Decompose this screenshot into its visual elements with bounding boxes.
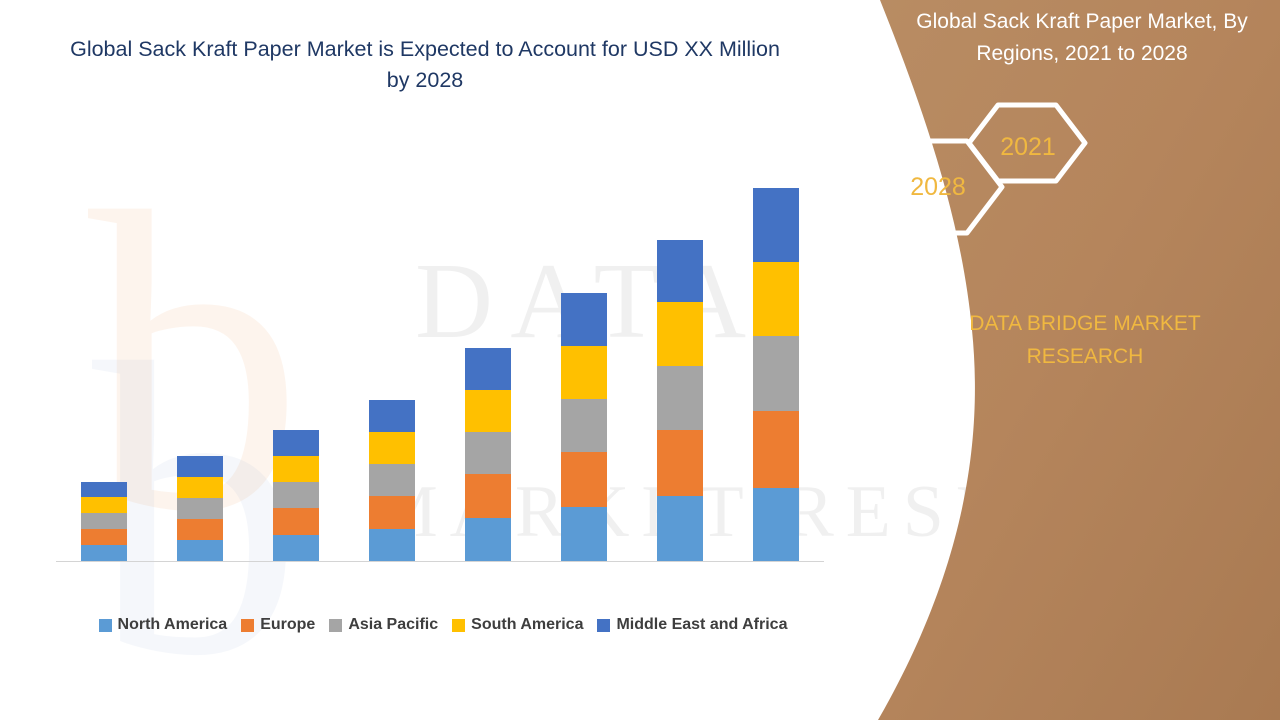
bar-segment — [81, 513, 127, 529]
bar-segment — [657, 366, 703, 430]
chart-legend: North AmericaEuropeAsia PacificSouth Ame… — [48, 616, 838, 634]
legend-swatch-icon — [241, 619, 254, 632]
bar-segment — [465, 474, 511, 518]
stacked-bar-2024 — [369, 400, 415, 561]
hexagon-2021-label: 2021 — [1000, 133, 1056, 161]
brand-name: DATA BRIDGE MARKET RESEARCH — [920, 308, 1250, 373]
bar-segment — [753, 488, 799, 561]
legend-item[interactable]: Middle East and Africa — [597, 616, 787, 634]
bar-column — [248, 430, 344, 561]
poster-canvas: b b DATA MARKET RESEARCH Global Sack Kra… — [0, 0, 1280, 720]
bar-segment — [81, 529, 127, 545]
bar-segment — [465, 348, 511, 390]
bar-segment — [177, 456, 223, 477]
chart-plot-area: 20212022202320242025202620272028 — [56, 170, 824, 562]
stacked-bar-2023 — [273, 430, 319, 561]
bar-column — [152, 456, 248, 561]
bar-segment — [561, 507, 607, 561]
bar-segment — [177, 519, 223, 540]
legend-swatch-icon — [452, 619, 465, 632]
legend-label: Europe — [260, 616, 315, 634]
legend-swatch-icon — [99, 619, 112, 632]
bar-segment — [465, 518, 511, 561]
bar-segment — [81, 497, 127, 513]
bar-segment — [465, 390, 511, 432]
stacked-bar-2022 — [177, 456, 223, 561]
bar-segment — [561, 452, 607, 507]
bar-column — [536, 293, 632, 561]
stacked-bar-2027 — [657, 240, 703, 561]
bar-segment — [657, 302, 703, 366]
bar-column — [728, 188, 824, 561]
bar-segment — [81, 482, 127, 497]
bar-segment — [753, 262, 799, 336]
bar-segment — [81, 545, 127, 561]
bar-segment — [273, 456, 319, 482]
bar-segment — [465, 432, 511, 474]
bar-segment — [753, 411, 799, 488]
bar-segment — [657, 240, 703, 302]
hexagon-2028-label: 2028 — [910, 173, 966, 201]
bar-segment — [561, 346, 607, 399]
bar-segment — [753, 188, 799, 262]
bar-segment — [561, 293, 607, 346]
x-axis-line — [56, 561, 824, 562]
bar-segment — [273, 430, 319, 456]
bar-group — [56, 170, 824, 561]
bar-segment — [273, 508, 319, 535]
legend-label: North America — [118, 616, 228, 634]
bar-segment — [561, 399, 607, 452]
legend-item[interactable]: South America — [452, 616, 583, 634]
bar-segment — [657, 496, 703, 561]
bar-column — [632, 240, 728, 561]
bar-segment — [273, 535, 319, 561]
bar-segment — [369, 400, 415, 432]
bar-segment — [177, 498, 223, 519]
stacked-bar-2026 — [561, 293, 607, 561]
bar-column — [344, 400, 440, 561]
legend-item[interactable]: Asia Pacific — [329, 616, 438, 634]
bar-column — [56, 482, 152, 561]
chart-panel: b b DATA MARKET RESEARCH Global Sack Kra… — [0, 0, 880, 720]
brand-name-line1: DATA BRIDGE MARKET — [920, 308, 1250, 341]
stacked-bar-2021 — [81, 482, 127, 561]
bar-segment — [657, 430, 703, 496]
brand-panel: Global Sack Kraft Paper Market, By Regio… — [850, 0, 1280, 720]
bar-segment — [369, 496, 415, 529]
legend-label: South America — [471, 616, 583, 634]
bar-segment — [177, 540, 223, 561]
legend-swatch-icon — [329, 619, 342, 632]
bar-segment — [369, 464, 415, 496]
bar-segment — [177, 477, 223, 498]
chart-title: Global Sack Kraft Paper Market is Expect… — [60, 34, 790, 96]
hexagon-badges: 2028 2021 — [850, 0, 1280, 300]
bar-segment — [273, 482, 319, 508]
brand-name-line2: RESEARCH — [920, 341, 1250, 374]
legend-swatch-icon — [597, 619, 610, 632]
bar-segment — [369, 432, 415, 464]
legend-item[interactable]: Europe — [241, 616, 315, 634]
bar-column — [440, 348, 536, 561]
legend-label: Middle East and Africa — [616, 616, 787, 634]
legend-label: Asia Pacific — [348, 616, 438, 634]
bar-segment — [753, 336, 799, 411]
bar-segment — [369, 529, 415, 561]
legend-item[interactable]: North America — [99, 616, 228, 634]
stacked-bar-2025 — [465, 348, 511, 561]
stacked-bar-2028 — [753, 188, 799, 561]
